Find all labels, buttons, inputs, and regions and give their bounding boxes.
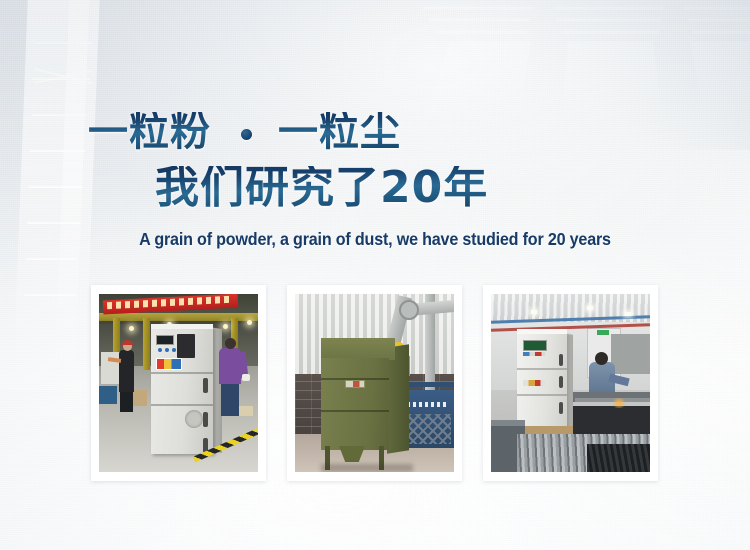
headline-subtitle-english: A grain of powder, a grain of dust, we h… — [30, 229, 720, 250]
headline-part-dust: 一粒尘 — [278, 112, 401, 152]
photo-strip — [0, 285, 750, 483]
promo-banner: 一粒粉 一粒尘 我们研究了20年 A grain of powder, a gr… — [0, 0, 750, 550]
headline-line-2: 我们研究了20年 — [155, 166, 488, 210]
photo-workshop-white-dust-collector — [99, 294, 258, 472]
separator-dot-icon — [241, 129, 252, 140]
photo-frame-1[interactable] — [91, 285, 266, 481]
photo-workshop-cabinet-operator — [491, 294, 650, 472]
photo-frame-2[interactable] — [287, 285, 462, 481]
headline-line-1: 一粒粉 一粒尘 — [88, 112, 401, 152]
headline-part-powder: 一粒粉 — [88, 112, 211, 152]
photo-frame-3[interactable] — [483, 285, 658, 481]
photo-green-dust-collector-unit — [295, 294, 454, 472]
